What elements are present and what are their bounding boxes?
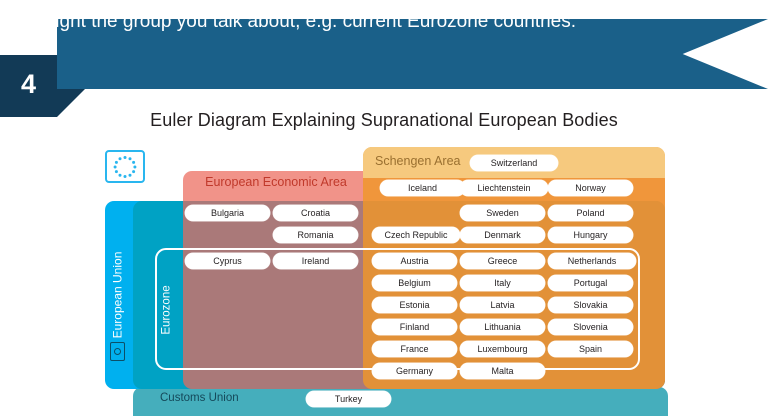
country-pill-denmark[interactable]: Denmark [460,227,545,243]
country-pill-switzerland[interactable]: Switzerland [470,155,558,171]
country-pill-hungary[interactable]: Hungary [548,227,633,243]
country-pill-france[interactable]: France [372,341,457,357]
country-pill-croatia[interactable]: Croatia [273,205,358,221]
country-pill-italy[interactable]: Italy [460,275,545,291]
country-pill-spain[interactable]: Spain [548,341,633,357]
country-pill-austria[interactable]: Austria [372,253,457,269]
country-pill-ireland[interactable]: Ireland [273,253,358,269]
schengen-area-label: Schengen Area [375,154,461,168]
country-pill-slovenia[interactable]: Slovenia [548,319,633,335]
european-economic-area-label: European Economic Area [183,175,369,189]
country-pill-iceland[interactable]: Iceland [380,180,465,196]
country-pill-poland[interactable]: Poland [548,205,633,221]
customs-union-region[interactable]: Customs Union Turkey [133,387,668,416]
country-pill-finland[interactable]: Finland [372,319,457,335]
country-pill-turkey[interactable]: Turkey [306,391,391,407]
country-pill-czech-republic[interactable]: Czech Republic [372,227,460,243]
country-pill-germany[interactable]: Germany [372,363,457,379]
country-pill-sweden[interactable]: Sweden [460,205,545,221]
country-pill-liechtenstein[interactable]: Liechtenstein [460,180,548,196]
country-pill-latvia[interactable]: Latvia [460,297,545,313]
country-pill-malta[interactable]: Malta [460,363,545,379]
eu-flag-icon [105,150,145,183]
country-pill-norway[interactable]: Norway [548,180,633,196]
country-pill-romania[interactable]: Romania [273,227,358,243]
country-pill-cyprus[interactable]: Cyprus [185,253,270,269]
country-pill-slovakia[interactable]: Slovakia [548,297,633,313]
country-pill-estonia[interactable]: Estonia [372,297,457,313]
country-pill-portugal[interactable]: Portugal [548,275,633,291]
eu-member-icon [110,342,125,361]
country-pill-bulgaria[interactable]: Bulgaria [185,205,270,221]
euler-diagram: Customs Union Turkey European Union Euro… [0,0,768,416]
country-pill-greece[interactable]: Greece [460,253,545,269]
country-pill-lithuania[interactable]: Lithuania [460,319,545,335]
slide: Highlight the group you talk about, e.g.… [0,0,768,416]
eurozone-label: Eurozone [156,258,178,362]
country-pill-luxembourg[interactable]: Luxembourg [460,341,545,357]
country-pill-belgium[interactable]: Belgium [372,275,457,291]
customs-union-label: Customs Union [160,392,239,404]
country-pill-netherlands[interactable]: Netherlands [548,253,636,269]
